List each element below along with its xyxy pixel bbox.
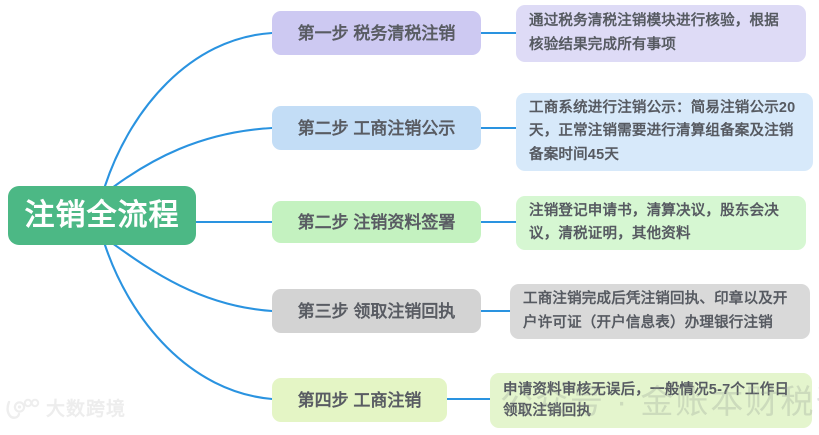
connector-root-to-step-1 — [105, 33, 272, 186]
step-node-1-label: 第一步 税务清税注销 — [298, 25, 456, 42]
desc-box-3: 注销登记申请书，清算决议，股东会决议，清税证明，其他资料 — [516, 196, 806, 250]
step-node-1[interactable]: 第一步 税务清税注销 — [272, 11, 481, 55]
desc-box-4-text: 工商注销完成后凭注销回执、印章以及开户许可证（开户信息表）办理银行注销 — [523, 288, 797, 335]
connector-root-to-step-2 — [112, 128, 272, 188]
root-node-label: 注销全流程 — [25, 201, 180, 231]
mindmap-canvas: 注销全流程 第一步 税务清税注销 通过税务清税注销模块进行核验，根据核验结果完成… — [0, 0, 819, 435]
root-node[interactable]: 注销全流程 — [8, 186, 196, 245]
step-node-4-label: 第三步 领取注销回执 — [298, 303, 456, 320]
step-node-2[interactable]: 第二步 工商注销公示 — [272, 106, 481, 150]
connector-root-to-step-4 — [112, 243, 272, 311]
desc-box-3-text: 注销登记申请书，清算决议，股东会决议，清税证明，其他资料 — [529, 200, 793, 247]
watermark-text: 公众号 · 金账本财税咨询 — [500, 385, 819, 418]
step-node-5[interactable]: 第四步 工商注销 — [272, 378, 447, 422]
desc-box-4: 工商注销完成后凭注销回执、印章以及开户许可证（开户信息表）办理银行注销 — [510, 284, 810, 339]
watermark-logo: 大数跨境 — [6, 398, 126, 420]
desc-box-1: 通过税务清税注销模块进行核验，根据核验结果完成所有事项 — [516, 5, 806, 62]
connector-root-to-step-5 — [105, 245, 272, 399]
step-node-4[interactable]: 第三步 领取注销回执 — [272, 289, 481, 333]
step-node-3[interactable]: 第二步 注销资料签署 — [272, 201, 481, 243]
step-node-5-label: 第四步 工商注销 — [298, 392, 422, 409]
step-node-2-label: 第二步 工商注销公示 — [298, 120, 456, 137]
desc-box-1-text: 通过税务清税注销模块进行核验，根据核验结果完成所有事项 — [529, 10, 793, 57]
watermark-logo-icon — [6, 398, 40, 420]
watermark-logo-label: 大数跨境 — [46, 400, 126, 419]
step-node-3-label: 第二步 注销资料签署 — [298, 214, 456, 231]
desc-box-2-text: 工商系统进行注销公示：简易注销公示20天，正常注销需要进行清算组备案及注销备案时… — [529, 97, 800, 167]
desc-box-2: 工商系统进行注销公示：简易注销公示20天，正常注销需要进行清算组备案及注销备案时… — [516, 93, 813, 171]
